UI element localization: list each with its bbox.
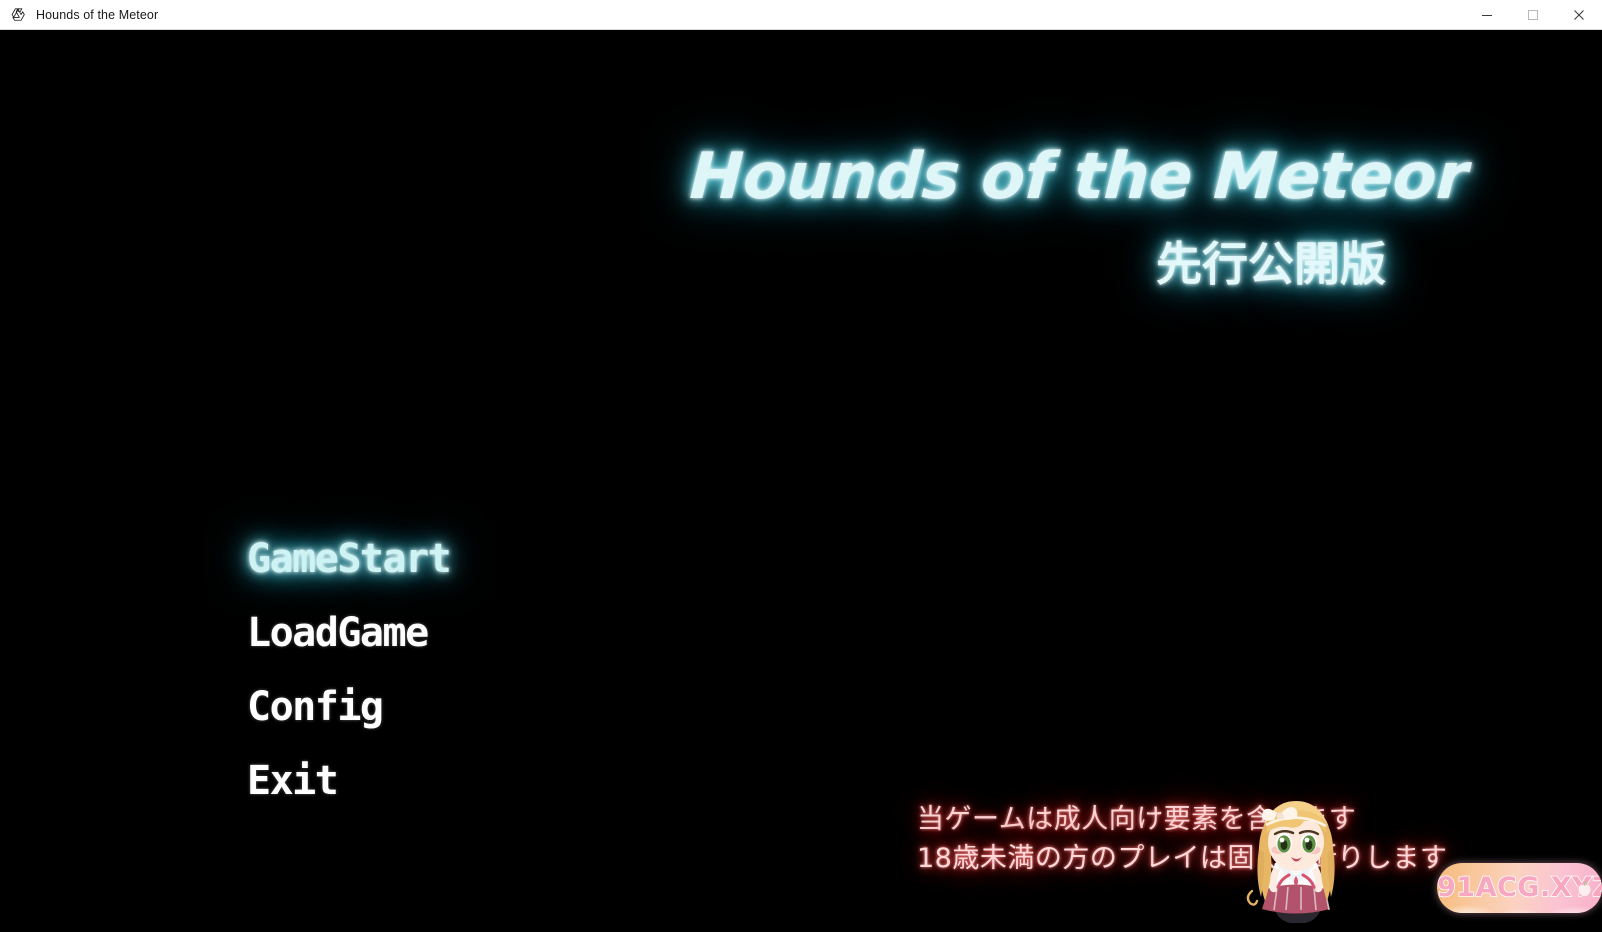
- maximize-button[interactable]: [1510, 0, 1556, 30]
- watermark-cloud-decor: [1437, 891, 1602, 913]
- watermark-site-label: 91ACG.XYZ: [1437, 872, 1582, 904]
- bottom-note: [0, 919, 1602, 932]
- close-button[interactable]: [1556, 0, 1602, 30]
- title-bar[interactable]: Hounds of the Meteor: [0, 0, 1602, 30]
- close-icon: [1573, 9, 1585, 21]
- game-subtitle: 先行公開版: [690, 241, 1410, 287]
- title-bar-left: Hounds of the Meteor: [0, 6, 1464, 23]
- game-title: Hounds of the Meteor: [688, 145, 1411, 209]
- menu-item-config[interactable]: Config: [247, 670, 450, 744]
- minimize-button[interactable]: [1464, 0, 1510, 30]
- window-title: Hounds of the Meteor: [36, 8, 158, 22]
- minimize-icon: [1481, 9, 1493, 21]
- watermark-badge: 91ACG.XYZ: [1437, 863, 1602, 913]
- game-viewport: Hounds of the Meteor 先行公開版 GameStart Loa…: [0, 30, 1602, 932]
- menu-item-load-game[interactable]: LoadGame: [247, 596, 450, 670]
- main-menu: GameStart LoadGame Config Exit: [247, 522, 450, 818]
- application-window: Hounds of the Meteor Ho: [0, 0, 1602, 932]
- menu-item-exit[interactable]: Exit: [247, 744, 450, 818]
- maximize-icon: [1527, 9, 1539, 21]
- warning-line-1: 当ゲームは成人向け要素を含みます: [917, 800, 1437, 839]
- menu-item-game-start[interactable]: GameStart: [247, 522, 450, 596]
- warning-line-2: 18歳未満の方のプレイは固くお断りします: [917, 839, 1437, 878]
- peach-icon: [1576, 881, 1593, 898]
- adult-content-warning: 当ゲームは成人向け要素を含みます 18歳未満の方のプレイは固くお断りします: [917, 800, 1437, 878]
- title-logo-block: Hounds of the Meteor 先行公開版: [690, 145, 1410, 287]
- unity-icon: [10, 6, 27, 23]
- window-controls: [1464, 0, 1602, 30]
